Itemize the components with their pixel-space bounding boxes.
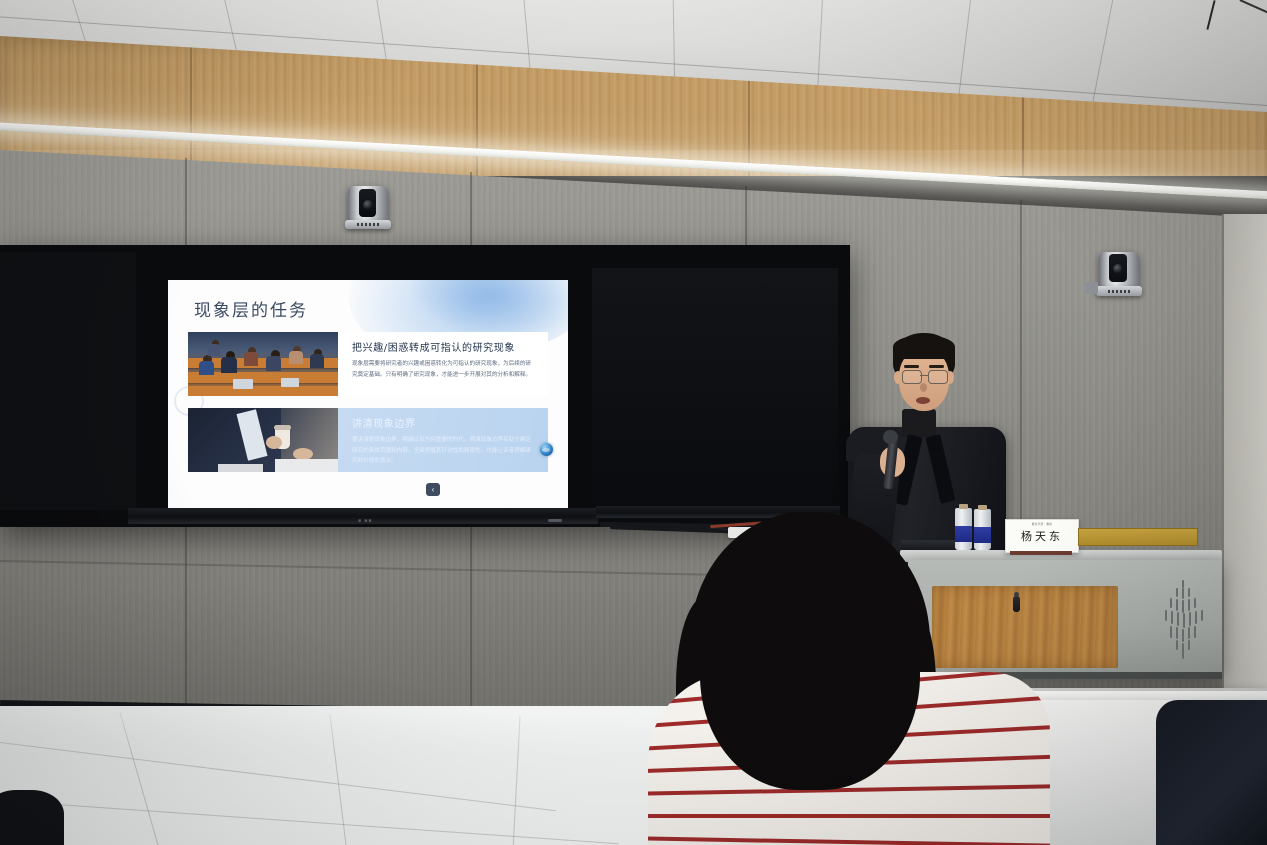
nameplate-stand <box>1010 551 1072 555</box>
secondary-display-panel[interactable] <box>592 268 838 508</box>
water-bottle[interactable] <box>974 509 991 550</box>
secondary-display-panel[interactable] <box>0 252 136 510</box>
water-bottle[interactable] <box>955 508 972 550</box>
presentation-slide[interactable]: 现象层的任务 <box>168 280 568 508</box>
lecture-hall-photo <box>188 332 338 396</box>
card-heading: 把兴趣/困惑转成可指认的研究现象 <box>352 339 532 354</box>
laptop[interactable] <box>901 540 955 550</box>
display-brand-label: ■ ■■ <box>358 518 372 524</box>
podium-lock[interactable] <box>1013 596 1020 612</box>
ptz-camera-left <box>345 186 391 232</box>
slide-previous-button[interactable]: ‹ <box>426 483 440 496</box>
ptz-camera-right <box>1096 252 1142 300</box>
card-heading: 讲清现象边界 <box>352 415 532 430</box>
nameplate-name: 杨天东 <box>1006 528 1078 544</box>
speaker-glasses <box>902 370 922 384</box>
wall-return <box>1222 214 1267 694</box>
card-body: 现象层需要将研究者的兴趣或困惑转化为可指认的研究现象，为后续的研究奠定基础。只有… <box>352 359 532 380</box>
globe-icon[interactable] <box>540 443 553 456</box>
audience-member-dark-jacket <box>1156 700 1267 845</box>
desk-coffee-photo <box>188 408 338 472</box>
nameplate: 教育学部・教授 杨天东 <box>1005 519 1079 553</box>
nameplate-subtitle: 教育学部・教授 <box>1006 522 1078 526</box>
slide-title: 现象层的任务 <box>194 296 308 321</box>
card-body: 要讲清楚现象边界，明确以及为何重要的时代。明清现象边界有助于确定研究的具体范围和… <box>352 435 532 467</box>
podium-speaker-grille <box>1160 578 1208 660</box>
audience-member-partial <box>0 790 64 845</box>
slide-card: 把兴趣/困惑转成可指认的研究现象 现象层需要将研究者的兴趣或困惑转化为可指认的研… <box>188 332 548 396</box>
gold-plaque <box>1078 528 1198 546</box>
slide-card: 讲清现象边界 要讲清楚现象边界，明确以及为何重要的时代。明清现象边界有助于确定研… <box>188 408 548 472</box>
lecture-hall-scene: ■ ■■ 现象层的任务 <box>0 0 1267 845</box>
podium-wood-panel <box>932 586 1118 668</box>
display-status-led <box>548 519 562 522</box>
